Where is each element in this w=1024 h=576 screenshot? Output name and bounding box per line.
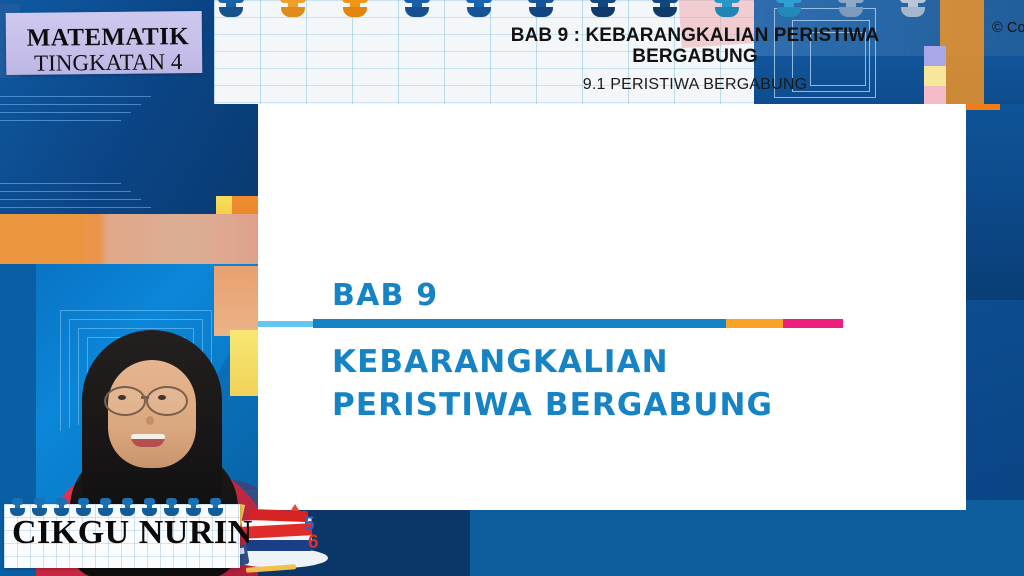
subject-label-line1: MATEMATIK (20, 24, 196, 51)
spiral-ring (590, 0, 616, 18)
book-blue (246, 538, 312, 551)
slide-title-line1: KEBARANGKALIAN (332, 344, 669, 380)
spiral-ring (466, 0, 492, 18)
spiral-ring-small (54, 498, 69, 516)
spiral-ring-small (208, 498, 223, 516)
chapter-heading: BAB 9 (332, 278, 438, 313)
spiral-ring (900, 0, 926, 18)
spiral-ring-small (186, 498, 201, 516)
header-section-subtitle: 9.1 PERISTIWA BERGABUNG (450, 76, 940, 94)
number-six: 6 (308, 532, 319, 554)
spiral-ring-small (10, 498, 25, 516)
copyright-notice: © Copyright Protected (992, 20, 1024, 36)
presenter-glasses-left (104, 386, 146, 416)
presentation-slide: MATEMATIK TINGKATAN 4 BAB 9 : KEBARANGKA… (0, 0, 1024, 576)
divider-segment-blue (313, 319, 726, 328)
left-peach-rect (214, 266, 258, 336)
spiral-ring-small (76, 498, 91, 516)
divider-segment-light-blue (258, 321, 313, 327)
presenter-name: CIKGU NURIN (12, 516, 230, 550)
spiral-ring (342, 0, 368, 18)
presenter-nose (146, 416, 154, 425)
spiral-ring-small (142, 498, 157, 516)
presenter-glasses-right (146, 386, 188, 416)
presenter-mouth (131, 434, 165, 447)
background-bottom-blue-strip (470, 500, 1024, 576)
book-red-top (250, 509, 308, 522)
spiral-binding-name-card (4, 498, 240, 518)
slide-title-line2: PERISTIWA BERGABUNG (332, 387, 773, 423)
divider-segment-pink (783, 319, 843, 328)
spiral-ring-small (98, 498, 113, 516)
header-chapter-title: BAB 9 : KEBARANGKALIAN PERISTIWA BERGABU… (450, 26, 940, 67)
spiral-ring (838, 0, 864, 18)
spiral-ring (652, 0, 678, 18)
subject-label-line2: TINGKATAN 4 (20, 50, 196, 75)
spiral-ring-small (120, 498, 135, 516)
spiral-ring-small (164, 498, 179, 516)
spiral-ring-small (32, 498, 47, 516)
spiral-ring (280, 0, 306, 18)
subject-label-card: MATEMATIK TINGKATAN 4 (6, 11, 203, 75)
spiral-ring (528, 0, 554, 18)
spiral-ring (714, 0, 740, 18)
spiral-ring (404, 0, 430, 18)
left-line-pattern (0, 96, 160, 216)
slide-content-panel: BAB 9 KEBARANGKALIAN PERISTIWA BERGABUNG (258, 104, 966, 510)
left-orange-band-solid (0, 214, 84, 266)
divider-segment-orange (726, 319, 783, 328)
spiral-binding-header (214, 0, 1024, 22)
presenter-glasses-bridge (141, 396, 149, 399)
spiral-ring (776, 0, 802, 18)
spiral-ring (218, 0, 244, 18)
